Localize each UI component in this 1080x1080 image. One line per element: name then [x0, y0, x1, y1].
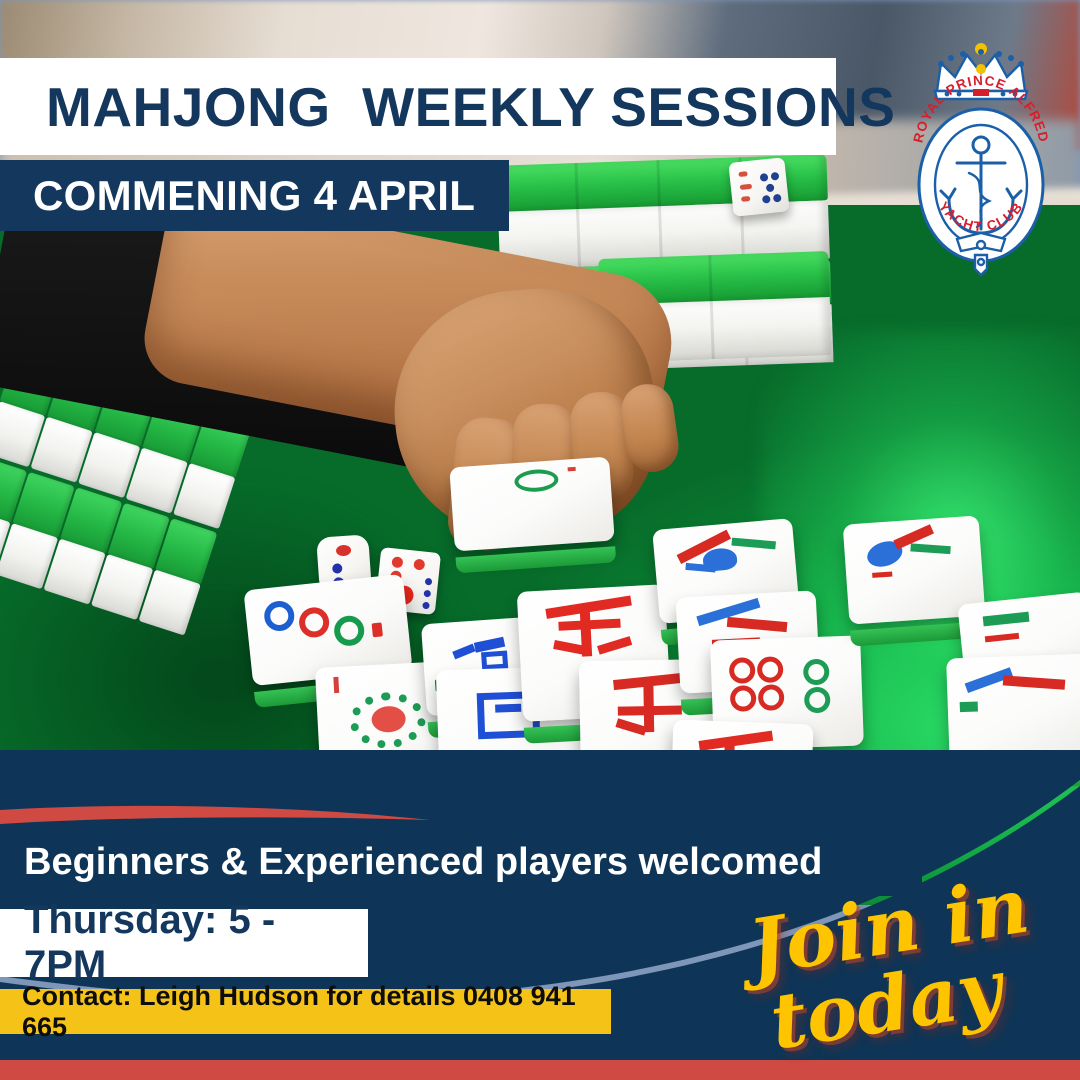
welcome-band: Beginners & Experienced players welcomed — [0, 828, 922, 896]
poster-canvas: MAHJONG WEEKLY SESSIONS COMMENING 4 APRI… — [0, 0, 1080, 1080]
contact-text: Contact: Leigh Hudson for details 0408 9… — [0, 981, 611, 1043]
page-title: MAHJONG WEEKLY SESSIONS — [0, 75, 895, 139]
subheadline-band: COMMENING 4 APRIL — [0, 160, 509, 231]
royal-prince-alfred-yacht-club-logo: ROYAL PRINCE ALFRED YACHT CLUB — [897, 33, 1065, 285]
contact-band: Contact: Leigh Hudson for details 0408 9… — [0, 989, 611, 1034]
crown-jewel-2-icon — [976, 64, 986, 74]
headline-band: MAHJONG WEEKLY SESSIONS — [0, 58, 836, 155]
time-band: Thursday: 5 - 7PM — [0, 909, 368, 977]
session-time-text: Thursday: 5 - 7PM — [0, 898, 368, 988]
welcome-text: Beginners & Experienced players welcomed — [0, 841, 822, 884]
start-date-text: COMMENING 4 APRIL — [0, 172, 475, 220]
logo-svg: ROYAL PRINCE ALFRED YACHT CLUB — [897, 33, 1065, 285]
die-on-stack — [728, 157, 789, 217]
tile-held — [449, 457, 614, 552]
